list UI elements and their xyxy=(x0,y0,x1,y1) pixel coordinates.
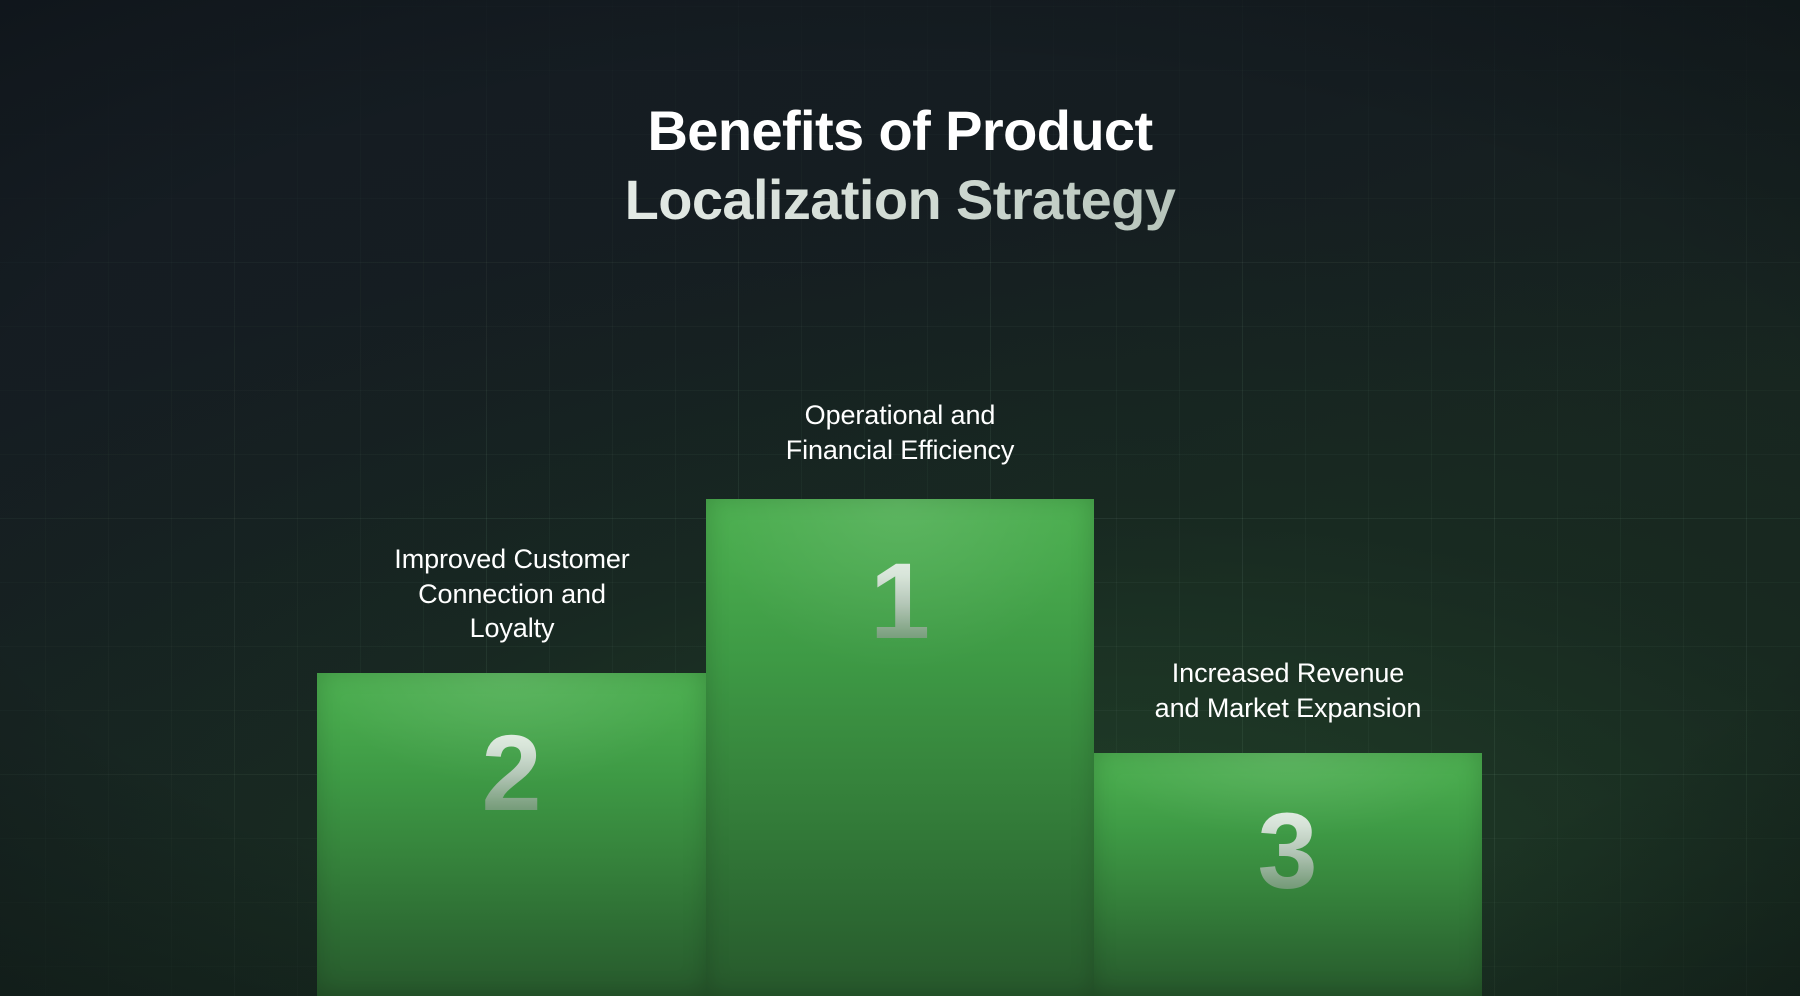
podium-label-rank-3-line-1: Increased Revenue xyxy=(1024,656,1552,691)
podium-label-rank-2-line-1: Improved Customer xyxy=(250,542,774,577)
podium-label-rank-2-line-2: Connection and xyxy=(250,577,774,612)
podium-label-rank-3-line-2: and Market Expansion xyxy=(1024,691,1552,726)
slide-canvas: Benefits of Product Localization Strateg… xyxy=(0,0,1800,996)
podium-label-rank-2-line-3: Loyalty xyxy=(250,611,774,646)
podium-chart: Operational and Financial Efficiency Imp… xyxy=(0,0,1800,996)
podium-label-rank-3: Increased Revenue and Market Expansion xyxy=(1024,656,1552,725)
podium-label-rank-2: Improved Customer Connection and Loyalty xyxy=(250,542,774,646)
podium-rank-number-2: 2 xyxy=(317,719,706,827)
podium-label-rank-1: Operational and Financial Efficiency xyxy=(640,398,1160,467)
podium-bar-rank-3: 3 xyxy=(1093,753,1482,996)
podium-bar-rank-1: 1 xyxy=(706,499,1094,996)
podium-label-rank-1-line-1: Operational and xyxy=(640,398,1160,433)
podium-rank-number-3: 3 xyxy=(1093,797,1482,905)
podium-label-rank-1-line-2: Financial Efficiency xyxy=(640,433,1160,468)
podium-rank-number-1: 1 xyxy=(706,547,1094,655)
podium-bar-rank-2: 2 xyxy=(317,673,706,996)
